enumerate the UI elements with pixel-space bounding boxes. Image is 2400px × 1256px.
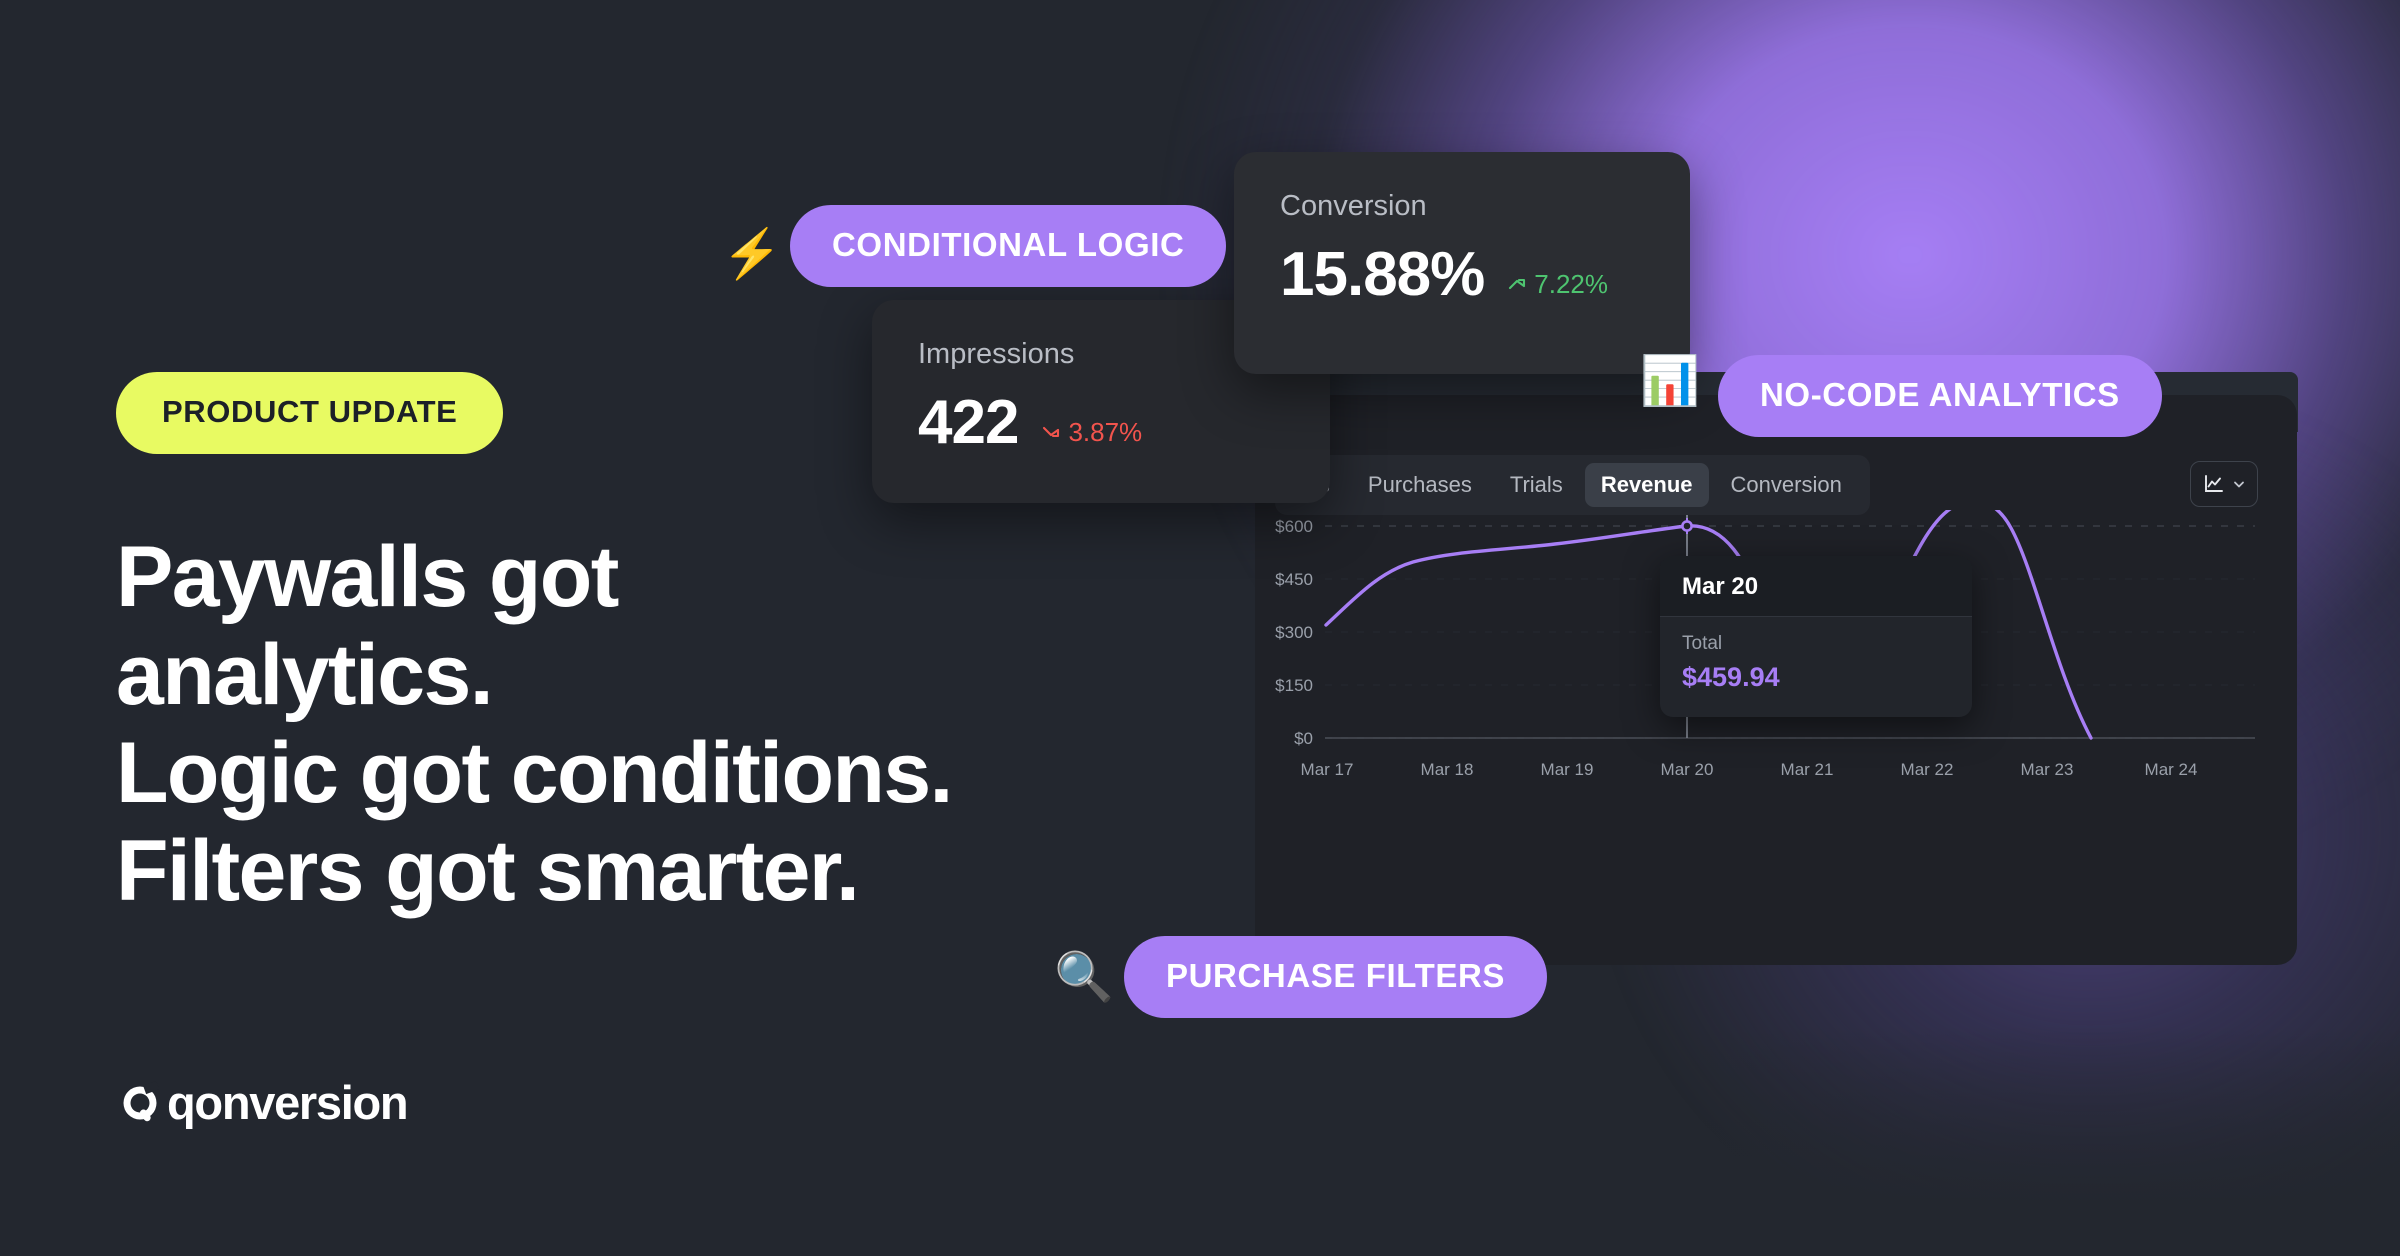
headline-line: Filters got smarter. xyxy=(116,822,1126,920)
x-tick: Mar 17 xyxy=(1301,760,1354,779)
x-tick: Mar 20 xyxy=(1661,760,1714,779)
product-update-badge: PRODUCT UPDATE xyxy=(116,372,503,454)
metric-card-conversion: Conversion 15.88% 7.22% xyxy=(1234,152,1690,374)
tab-revenue[interactable]: Revenue xyxy=(1585,463,1709,507)
x-tick: Mar 18 xyxy=(1421,760,1474,779)
headline-line: Paywalls got xyxy=(116,528,1126,626)
chart-tooltip-header: Mar 20 xyxy=(1660,556,1972,617)
pill-purchase-filters: PURCHASE FILTERS xyxy=(1124,936,1547,1018)
tab-purchases[interactable]: Purchases xyxy=(1352,463,1488,507)
metric-tabs[interactable]: ws Purchases Trials Revenue Conversion xyxy=(1275,455,1870,515)
magnifying-glass-icon: 🔍 xyxy=(1054,954,1114,1002)
pill-no-code-analytics: NO-CODE ANALYTICS xyxy=(1718,355,2162,437)
chevron-down-icon xyxy=(2232,477,2246,491)
chart-tooltip-value: $459.94 xyxy=(1682,662,1950,693)
y-tick: $300 xyxy=(1275,623,1313,642)
chart-x-axis-labels: Mar 17 Mar 18 Mar 19 Mar 20 Mar 21 Mar 2… xyxy=(1301,760,2198,779)
qonversion-logo-text: qonversion xyxy=(167,1075,407,1130)
chart-y-axis-labels: $600 $450 $300 $150 $0 xyxy=(1275,517,1313,748)
y-tick: $600 xyxy=(1275,517,1313,536)
chart-highlight-point xyxy=(1679,518,1695,534)
qonversion-logo-mark xyxy=(116,1079,164,1127)
tab-conversion[interactable]: Conversion xyxy=(1715,463,1858,507)
metric-card-label: Conversion xyxy=(1280,190,1644,223)
metric-card-delta: 7.22% xyxy=(1506,269,1608,300)
x-tick: Mar 19 xyxy=(1541,760,1594,779)
arrow-up-right-icon xyxy=(1506,273,1528,295)
chart-tooltip: Mar 20 Total $459.94 xyxy=(1660,556,1972,717)
metric-card-value: 15.88% xyxy=(1280,239,1484,310)
lightning-bolt-icon: ⚡ xyxy=(722,231,782,279)
qonversion-logo: qonversion xyxy=(116,1075,407,1130)
chart-tooltip-date: Mar 20 xyxy=(1682,573,1950,601)
tab-trials[interactable]: Trials xyxy=(1494,463,1579,507)
chart-tooltip-label: Total xyxy=(1682,633,1950,655)
y-tick: $150 xyxy=(1275,676,1313,695)
line-chart-icon xyxy=(2203,473,2225,495)
x-tick: Mar 22 xyxy=(1901,760,1954,779)
y-tick: $450 xyxy=(1275,570,1313,589)
chart-tooltip-body: Total $459.94 xyxy=(1660,617,1972,717)
pill-label: NO-CODE ANALYTICS xyxy=(1760,376,2120,414)
x-tick: Mar 24 xyxy=(2145,760,2198,779)
metric-card-label: Impressions xyxy=(918,338,1284,371)
page-title: Paywalls got analytics. Logic got condit… xyxy=(116,528,1126,920)
pill-label: CONDITIONAL LOGIC xyxy=(832,226,1184,264)
pill-conditional-logic: CONDITIONAL LOGIC xyxy=(790,205,1226,287)
hero-text-column: PRODUCT UPDATE Paywalls got analytics. L… xyxy=(116,372,1176,920)
bottom-fade xyxy=(0,1026,2400,1256)
x-tick: Mar 23 xyxy=(2021,760,2074,779)
pill-label: PURCHASE FILTERS xyxy=(1166,957,1505,995)
bar-chart-icon: 📊 xyxy=(1640,358,1700,406)
chart-type-button[interactable] xyxy=(2190,461,2258,507)
metric-card-value-row: 15.88% 7.22% xyxy=(1280,239,1644,310)
y-tick: $0 xyxy=(1294,729,1313,748)
metric-card-delta-value: 7.22% xyxy=(1534,269,1608,300)
headline-line: analytics. xyxy=(116,626,1126,724)
hero-banner: $600 $450 $300 $150 $0 Mar 17 Mar 18 Mar… xyxy=(0,0,2400,1256)
x-tick: Mar 21 xyxy=(1781,760,1834,779)
headline-line: Logic got conditions. xyxy=(116,724,1126,822)
